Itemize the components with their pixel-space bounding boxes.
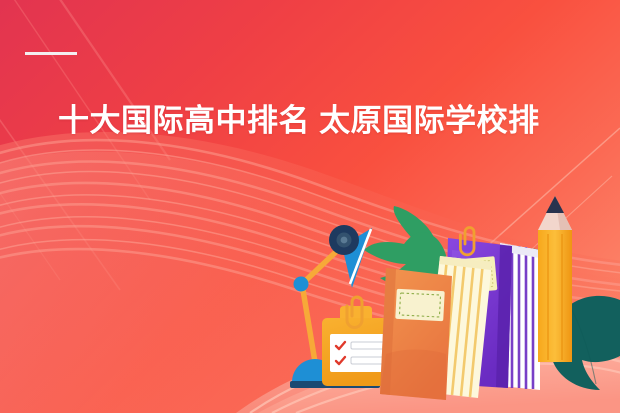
lamp-arm-lower xyxy=(302,284,316,368)
clipboard-tab xyxy=(340,306,372,318)
title-accent-rule xyxy=(25,52,77,55)
article-banner: 十大国际高中排名 太原国际学校排 xyxy=(0,0,620,413)
lamp-arm-upper xyxy=(302,248,340,284)
school-supplies-illustration xyxy=(0,0,620,413)
checklist-line xyxy=(351,342,387,349)
lamp-bulb xyxy=(341,237,348,244)
orange-notebook xyxy=(380,268,452,400)
lamp-joint xyxy=(294,277,309,292)
pencil-body xyxy=(538,230,572,362)
pencil-tip xyxy=(546,196,564,213)
pencil xyxy=(538,196,572,362)
notebook-label xyxy=(395,289,445,321)
notebook-shadow xyxy=(380,350,446,401)
